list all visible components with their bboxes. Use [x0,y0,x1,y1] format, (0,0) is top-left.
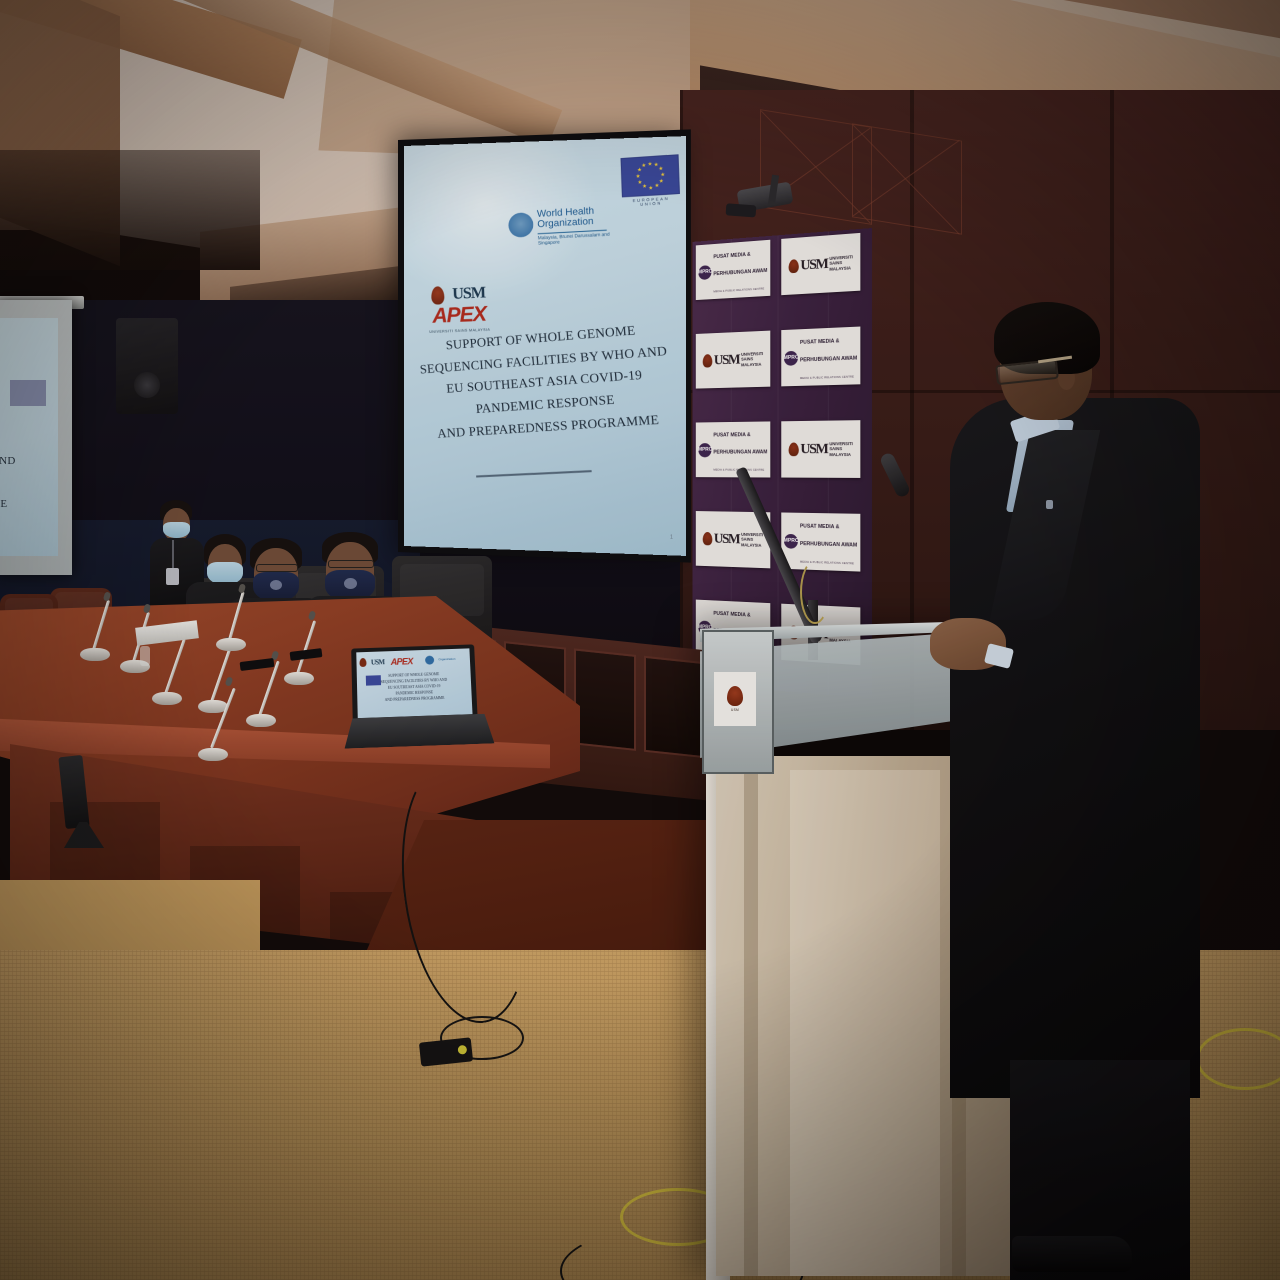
eu-star-icon: ★ [637,180,641,184]
apex-wordmark: APEX [432,303,486,328]
slide-divider [476,470,592,477]
eu-flag-icon: ★★★★★★★★★★★★ [621,154,680,197]
eu-star-icon: ★ [658,167,662,171]
microphone-cable [800,560,830,624]
eu-flag-icon [10,380,46,406]
usm-crest-icon [703,532,713,545]
usm-wordmark: USM [714,531,739,548]
mprc-name: PUSAT MEDIA &PERHUBUNGAN AWAM [713,432,767,455]
eu-star-icon: ★ [636,175,640,179]
left-screen-line: AMME [0,496,58,513]
laptop-slide-title: SUPPORT OF WHOLE GENOME SEQUENCING FACIL… [361,670,468,704]
who-name-line1: Organization [438,658,460,662]
water-bottle [140,646,150,666]
mprc-mark-icon: MPRC [699,265,712,280]
eu-star-icon: ★ [659,179,663,183]
ceiling-shadow-left [0,150,260,270]
usm-subtitle: UNIVERSITISAINSMALAYSIA [829,255,853,272]
usm-wordmark: USM [714,352,739,369]
usm-crest-icon [727,686,743,706]
podium-front-face [790,770,940,1276]
eu-star-icon: ★ [654,184,658,188]
backdrop-logo-tile: USMUNIVERSITISAINSMALAYSIA [781,233,860,295]
who-emblem-icon [508,212,534,238]
usm-crest-icon [788,259,798,273]
lanyard [172,540,174,570]
usm-subtitle: UNIVERSITISAINSMALAYSIA [829,442,853,457]
eyeglasses [328,560,374,568]
usm-crest-icon [703,354,713,368]
mprc-subtitle: MEDIA & PUBLIC RELATIONS CENTRE [713,286,764,293]
left-screen-line: OME [0,436,58,453]
loudspeaker-cone [134,372,160,398]
eu-logo: ★★★★★★★★★★★★ EUROPEAN UNION [621,154,681,208]
wall-decor-panel [852,123,962,234]
projector-screen-main: ★★★★★★★★★★★★ EUROPEAN UNION World Health… [404,136,686,556]
who-logo: World Health Organization Malaysia, Brun… [508,205,620,248]
usm-crest-icon [431,286,445,305]
backdrop-logo-tile: MPRCPUSAT MEDIA &PERHUBUNGAN AWAMMEDIA &… [781,327,860,387]
slide-title: SUPPORT OF WHOLE GENOME SEQUENCING FACIL… [406,317,686,447]
apex-wordmark: APEX [391,656,413,667]
slide-page-number: 1 [670,534,673,540]
mprc-name: PUSAT MEDIA &PERHUBUNGAN AWAM [713,252,767,277]
surgical-mask [163,522,190,538]
wall-loudspeaker [116,318,178,414]
podium-plaque-text: USM [731,708,739,712]
backdrop-logo-tile: MPRCPUSAT MEDIA &PERHUBUNGAN AWAMMEDIA &… [696,240,771,300]
mprc-name: PUSAT MEDIA &PERHUBUNGAN AWAM [800,338,857,363]
usm-apex-logo: USM APEX UNIVERSITI SAINS MALAYSIA [415,283,503,334]
speaker-shoe [1012,1236,1132,1272]
usm-crest-icon [788,443,798,457]
eyeglasses [256,564,298,572]
eu-star-icon: ★ [647,162,651,166]
usm-wordmark: USM [452,284,486,304]
press-conference-photo: OME HO AND D-19 AMME ★★★★★★★★★★★★ EUROPE… [0,0,1280,1280]
left-screen-line: D-19 [0,470,58,487]
usm-subtitle: UNIVERSITISAINSMALAYSIA [741,532,763,547]
usm-wordmark: USM [800,441,827,458]
backdrop-logo-tile: MPRCPUSAT MEDIA &PERHUBUNGAN AWAMMEDIA &… [696,421,771,477]
eu-caption: EUROPEAN UNION [622,196,680,208]
usm-subtitle: UNIVERSITISAINSMALAYSIA [741,352,763,367]
laptop-slide-logos: USM APEX Organization [359,650,467,669]
podium-stripe [744,756,758,1276]
mprc-mark-icon: MPRC [784,533,798,548]
left-screen-text: OME HO AND D-19 AMME [0,436,58,513]
eu-star-icon: ★ [648,186,652,190]
eu-star-icon: ★ [660,173,664,177]
usm-wordmark: USM [371,658,385,666]
mprc-name: PUSAT MEDIA &PERHUBUNGAN AWAM [800,524,857,549]
projector-screen-left: OME HO AND D-19 AMME [0,318,58,556]
laptop-screen: USM APEX Organization SUPPORT OF WHOLE G… [356,648,472,718]
mprc-mark-icon: MPRC [784,350,798,365]
mprc-subtitle: MEDIA & PUBLIC RELATIONS CENTRE [800,375,854,380]
who-emblem-icon [425,656,434,665]
laptop-keyboard-base[interactable] [344,713,495,748]
backdrop-logo-tile: USMUNIVERSITISAINSMALAYSIA [781,420,860,478]
left-screen-line: HO AND [0,453,58,470]
desk-monitor [62,756,128,852]
backdrop-logo-tile: USMUNIVERSITISAINSMALAYSIA [696,331,771,389]
lapel-pin [1046,500,1053,509]
podium-usm-plaque: USM [714,672,756,726]
eu-star-icon: ★ [641,164,645,168]
mprc-mark-icon: MPRC [699,443,712,457]
usm-wordmark: USM [800,256,827,274]
id-badge [166,568,179,585]
